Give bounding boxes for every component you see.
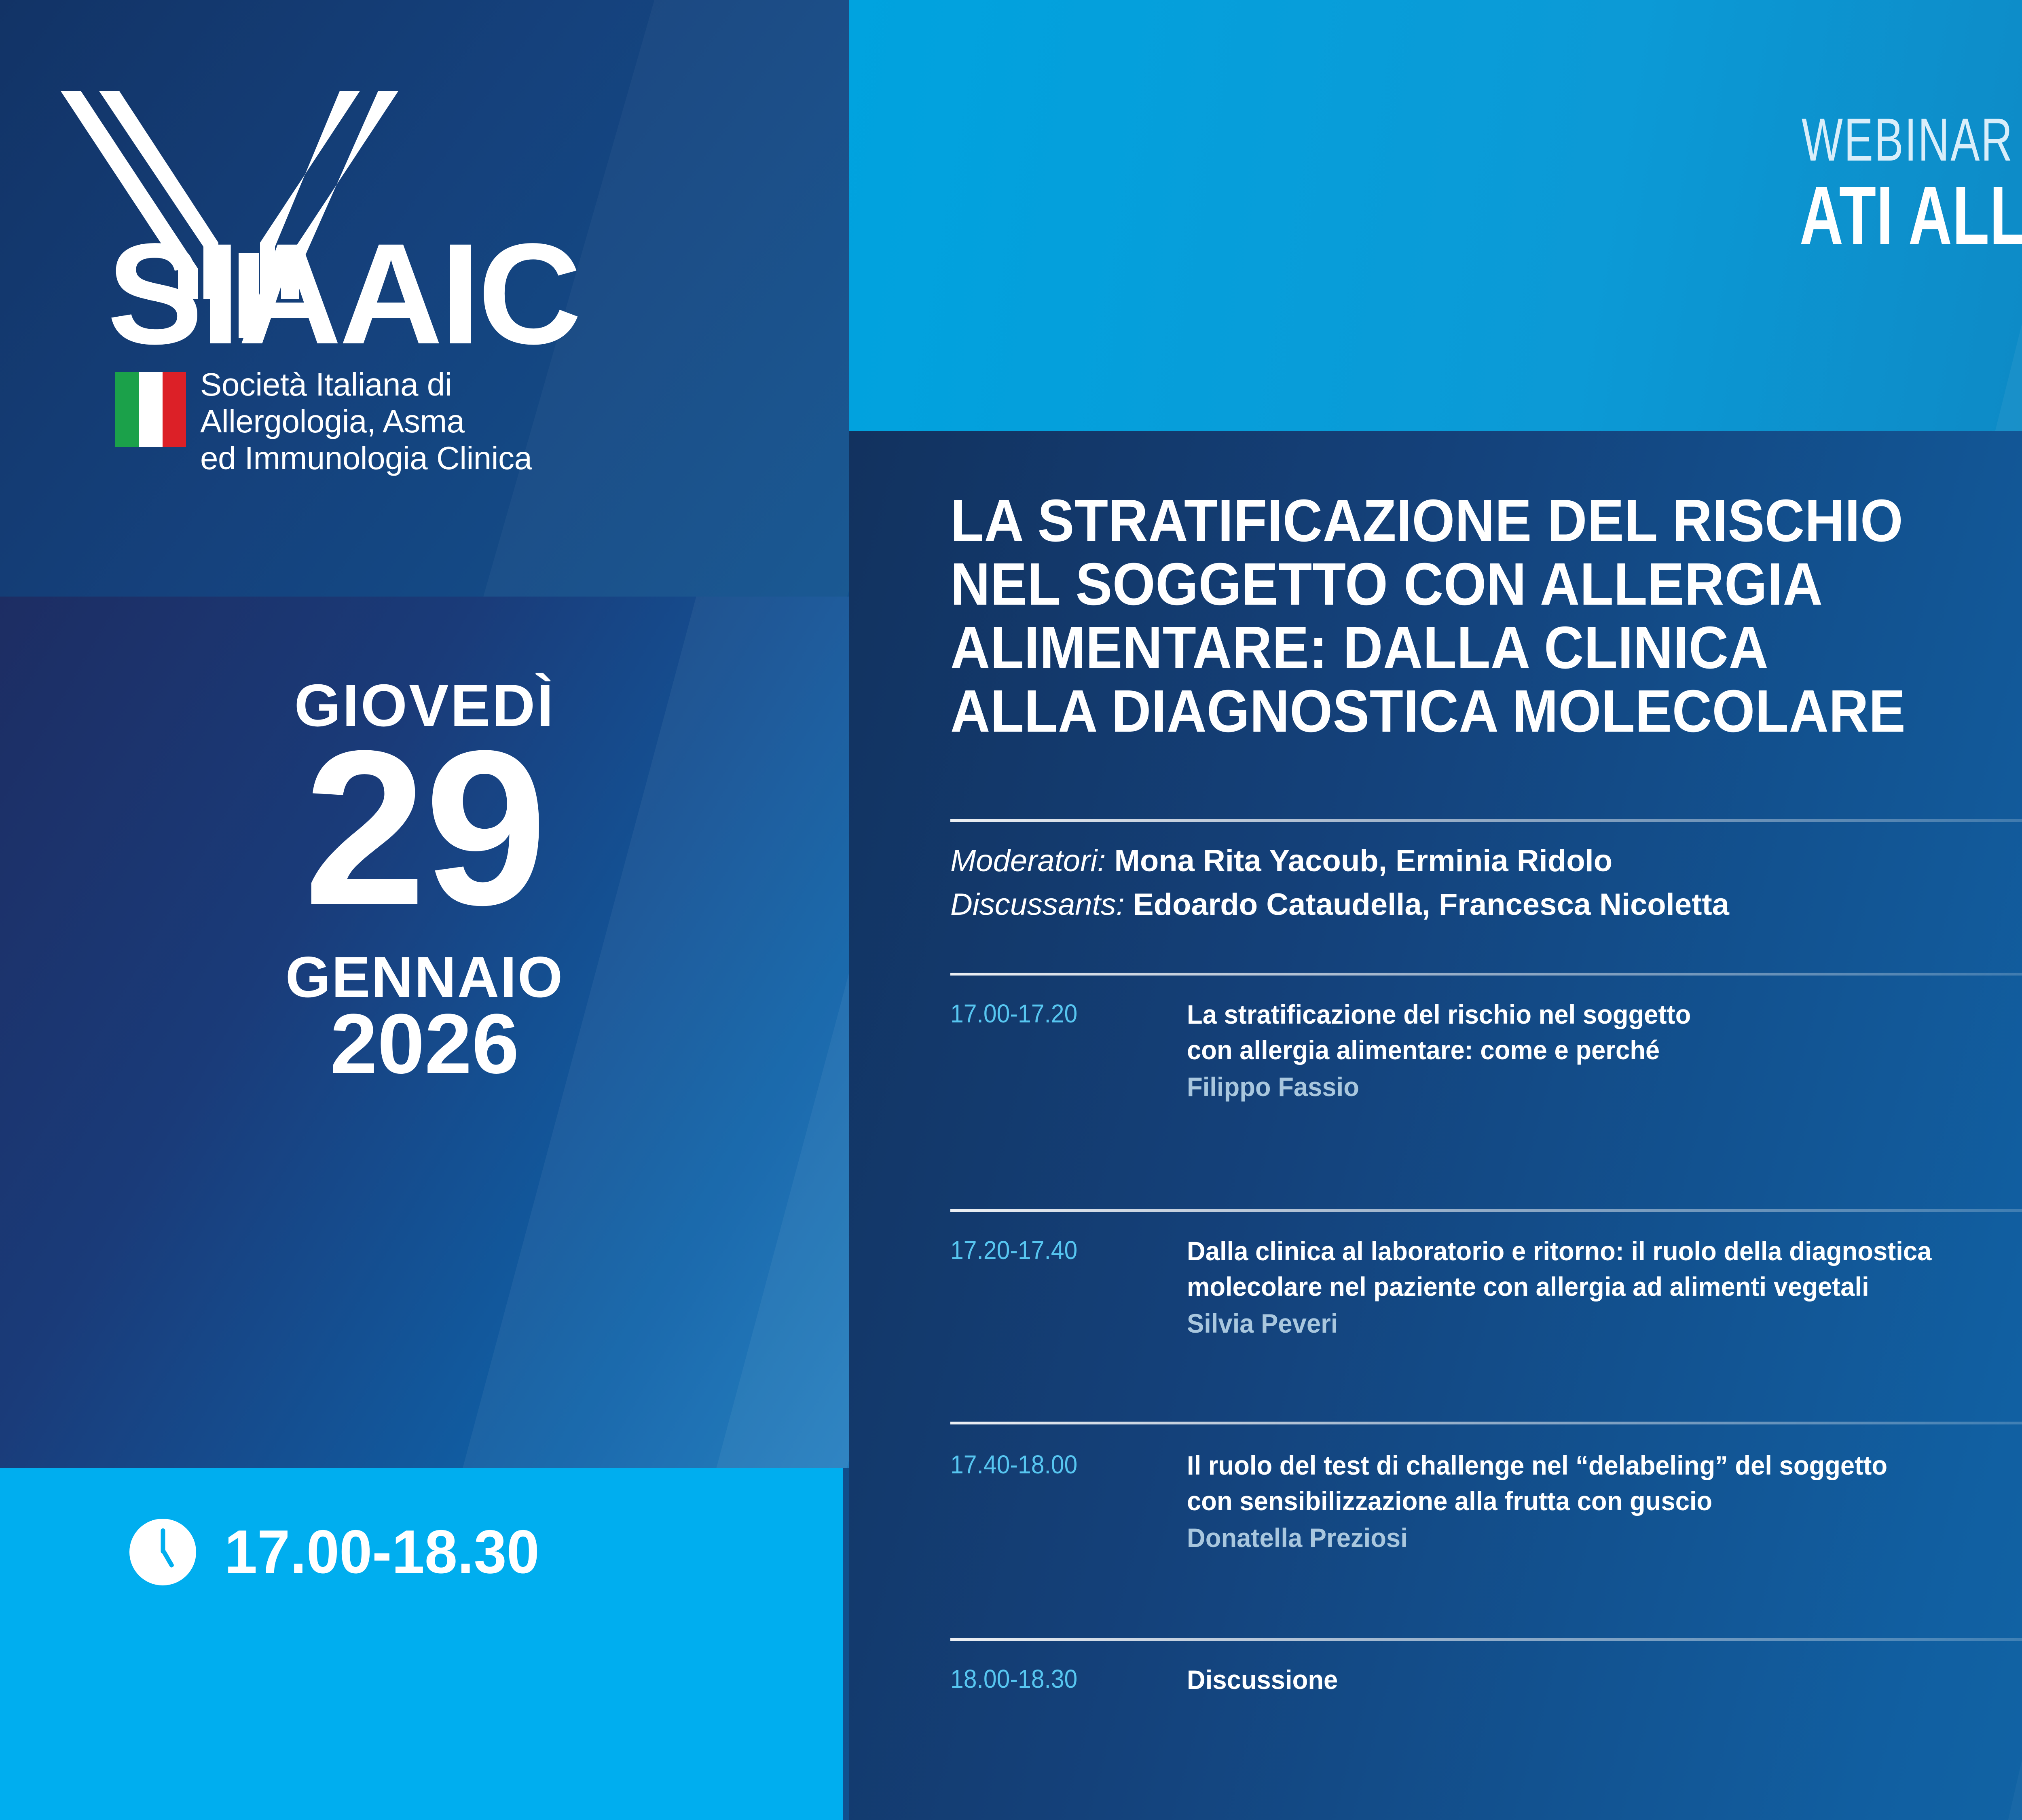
divider-top <box>950 819 2022 822</box>
divider-2 <box>950 1209 2022 1212</box>
discussants-names: Edoardo Cataudella, Francesca Nicoletta <box>1125 887 1729 922</box>
schedule-entry: 17.20-17.40 Dalla clinica al laboratorio… <box>950 1234 2022 1342</box>
date-panel: GIOVEDÌ 29 GENNAIO 2026 <box>0 597 849 1468</box>
program-title-line-4: ALLA DIAGNOSTICA MOLECOLARE <box>950 680 2022 743</box>
siaaic-subtitle: Società Italiana di Allergologia, Asma e… <box>200 366 532 477</box>
webinar-poster: WEBINAR ATI ALLERGOLOGIA Coordinatore: E… <box>0 0 2022 1820</box>
program-title: LA STRATIFICAZIONE DEL RISCHIO NEL SOGGE… <box>950 489 2022 743</box>
program-panel: LA STRATIFICAZIONE DEL RISCHIO NEL SOGGE… <box>849 431 2022 1820</box>
entry-time: 17.40-18.00 <box>950 1450 1159 1479</box>
entry-time: 18.00-18.30 <box>950 1664 1159 1694</box>
entry-time: 17.00-17.20 <box>950 999 1159 1029</box>
entry-title-line-1: Dalla clinica al laboratorio e ritorno: … <box>1187 1234 2022 1269</box>
header-band: WEBINAR ATI ALLERGOLOGIA Coordinatore: E… <box>849 0 2022 431</box>
siaaic-subtitle-line1: Società Italiana di <box>200 366 532 403</box>
entry-title-line-1: La stratificazione del rischio nel sogge… <box>1187 997 2022 1033</box>
time-bar: 17.00-18.30 <box>0 1468 843 1820</box>
program-title-line-2: NEL SOGGETTO CON ALLERGIA <box>950 553 2022 616</box>
logo-column: SIAAIC Società Italiana di Allergologia,… <box>0 0 849 597</box>
entry-time: 17.20-17.40 <box>950 1235 1159 1265</box>
program-title-line-3: ALIMENTARE: DALLA CLINICA <box>950 616 2022 680</box>
entry-speaker: Donatella Preziosi <box>1187 1519 2022 1556</box>
date-day: 29 <box>0 718 849 938</box>
moderators-block: Moderatori: Mona Rita Yacoub, Erminia Ri… <box>950 839 2022 927</box>
entry-title-line-2: con sensibilizzazione alla frutta con gu… <box>1187 1484 2022 1519</box>
siaaic-logo: SIAAIC Società Italiana di Allergologia,… <box>38 79 807 508</box>
clock-icon <box>129 1519 196 1585</box>
italian-flag-icon <box>115 372 186 447</box>
siaaic-subtitle-line2: Allergologia, Asma <box>200 403 532 440</box>
moderators-label: Moderatori: <box>950 844 1106 878</box>
discussants-label: Discussants: <box>950 887 1125 922</box>
siaaic-acronym: SIAAIC <box>107 222 579 366</box>
entry-title-line-1: Il ruolo del test di challenge nel “dela… <box>1187 1448 2022 1484</box>
entry-speaker: Filippo Fassio <box>1187 1068 2022 1105</box>
time-range: 17.00-18.30 <box>224 1517 539 1587</box>
divider-3 <box>950 1422 2022 1424</box>
schedule-entry: 17.00-17.20 La stratificazione del risch… <box>950 997 2022 1105</box>
program-title-line-1: LA STRATIFICAZIONE DEL RISCHIO <box>950 489 2022 553</box>
entry-speaker: Silvia Peveri <box>1187 1305 2022 1342</box>
divider-1 <box>950 973 2022 976</box>
siaaic-subtitle-line3: ed Immunologia Clinica <box>200 440 532 476</box>
entry-title-line-2: molecolare nel paziente con allergia ad … <box>1187 1269 2022 1305</box>
entry-title-line-2: con allergia alimentare: come e perché <box>1187 1033 2022 1068</box>
entry-title-line-1: Discussione <box>1187 1662 2022 1698</box>
schedule-entry: 17.40-18.00 Il ruolo del test di challen… <box>950 1448 2022 1556</box>
header-kicker: WEBINAR <box>1802 109 2014 170</box>
schedule-entry: 18.00-18.30 Discussione <box>950 1662 2022 1698</box>
discussants-row: Discussants: Edoardo Cataudella, Frances… <box>950 883 2022 927</box>
date-year: 2026 <box>0 995 849 1093</box>
header-title: ATI ALLERGOLOGIA <box>1800 174 2022 257</box>
moderators-names: Mona Rita Yacoub, Erminia Ridolo <box>1106 844 1612 878</box>
divider-4 <box>950 1638 2022 1641</box>
moderators-row: Moderatori: Mona Rita Yacoub, Erminia Ri… <box>950 839 2022 883</box>
